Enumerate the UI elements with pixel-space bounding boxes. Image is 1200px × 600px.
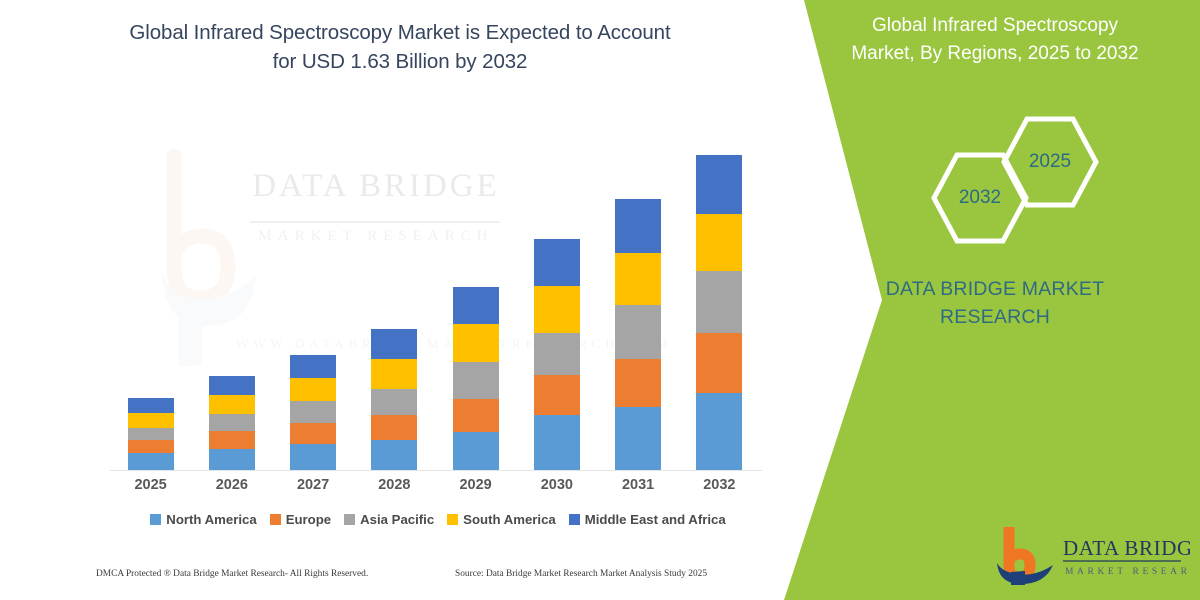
legend-item[interactable]: Middle East and Africa	[569, 512, 726, 527]
legend-label: North America	[166, 512, 256, 527]
legend-label: Middle East and Africa	[585, 512, 726, 527]
legend-item[interactable]: South America	[447, 512, 556, 527]
bar-segment	[209, 376, 255, 395]
chart-title-line-2: for USD 1.63 Billion by 2032	[60, 47, 740, 76]
bar-segment	[453, 362, 499, 399]
bar-segment	[371, 440, 417, 470]
bar-segment	[696, 271, 742, 333]
bar-segment	[209, 414, 255, 431]
chart-title-line-1: Global Infrared Spectroscopy Market is E…	[60, 18, 740, 47]
infographic-root: Global Infrared Spectroscopy Market is E…	[0, 0, 1200, 600]
x-axis-line	[110, 470, 762, 471]
green-panel-title-line-1: Global Infrared Spectroscopy	[810, 12, 1180, 40]
x-axis-label-2031: 2031	[598, 477, 678, 493]
x-axis-label-2027: 2027	[273, 477, 353, 493]
bar-segment	[615, 305, 661, 359]
brand-name-line-2: RESEARCH	[870, 303, 1120, 331]
bar-segment	[371, 389, 417, 415]
chart-panel: Global Infrared Spectroscopy Market is E…	[0, 0, 800, 600]
bar-segment	[615, 199, 661, 253]
logo-sub-text: MARKET RESEARCH	[1065, 567, 1190, 577]
brand-name-line-1: DATA BRIDGE MARKET	[870, 275, 1120, 303]
legend-label: South America	[463, 512, 556, 527]
bar-segment	[696, 393, 742, 470]
legend-item[interactable]: Asia Pacific	[344, 512, 434, 527]
x-axis-tick-labels: 20252026202720282029203020312032	[110, 477, 760, 499]
green-panel-title: Global Infrared Spectroscopy Market, By …	[810, 12, 1180, 67]
x-axis-label-2026: 2026	[192, 477, 272, 493]
logo-mark-icon	[997, 531, 1053, 585]
bar-segment	[696, 333, 742, 393]
bar-chart-plot-area	[110, 140, 760, 470]
legend-item[interactable]: North America	[150, 512, 256, 527]
legend-swatch-icon	[344, 514, 355, 525]
bar-group-2030	[534, 239, 580, 470]
bar-segment	[534, 333, 580, 375]
bar-segment	[453, 432, 499, 470]
bar-segment	[696, 214, 742, 271]
legend-item[interactable]: Europe	[270, 512, 331, 527]
footer-dmca-text: DMCA Protected ® Data Bridge Market Rese…	[96, 569, 368, 579]
bar-segment	[371, 329, 417, 359]
chart-legend: North AmericaEuropeAsia PacificSouth Ame…	[108, 512, 768, 527]
bar-group-2027	[290, 355, 336, 470]
bar-segment	[615, 253, 661, 305]
bar-segment	[534, 375, 580, 415]
bar-group-2031	[615, 199, 661, 470]
hexagon-badge-2025: 2025	[1000, 112, 1100, 212]
green-panel-brand-name: DATA BRIDGE MARKET RESEARCH	[870, 275, 1120, 332]
bar-segment	[290, 444, 336, 470]
bar-segment	[209, 395, 255, 414]
bar-segment	[209, 449, 255, 470]
legend-label: Europe	[286, 512, 331, 527]
bar-segment	[371, 359, 417, 389]
bar-segment	[209, 431, 255, 449]
x-axis-label-2029: 2029	[436, 477, 516, 493]
bar-segment	[290, 401, 336, 423]
hexagon-label-2025: 2025	[1000, 112, 1100, 212]
bar-group-2025	[128, 398, 174, 470]
bar-segment	[453, 324, 499, 362]
bar-group-2026	[209, 376, 255, 470]
bar-group-2029	[453, 287, 499, 470]
x-axis-label-2025: 2025	[111, 477, 191, 493]
bar-segment	[290, 423, 336, 444]
bar-group-2032	[696, 155, 742, 470]
bar-segment	[615, 359, 661, 407]
footer-source-text: Source: Data Bridge Market Research Mark…	[455, 569, 707, 579]
bar-group-2028	[371, 329, 417, 470]
bar-segment	[453, 287, 499, 324]
bar-segment	[696, 155, 742, 214]
bar-segment	[453, 399, 499, 432]
legend-swatch-icon	[270, 514, 281, 525]
bar-segment	[128, 453, 174, 470]
data-bridge-logo: DATA BRIDGE MARKET RESEARCH	[995, 527, 1190, 589]
legend-swatch-icon	[447, 514, 458, 525]
bar-segment	[534, 286, 580, 333]
green-side-panel: Global Infrared Spectroscopy Market, By …	[760, 0, 1200, 600]
bar-segment	[128, 440, 174, 453]
legend-label: Asia Pacific	[360, 512, 434, 527]
bar-segment	[128, 413, 174, 428]
bar-segment	[534, 239, 580, 286]
bar-segment	[290, 378, 336, 401]
legend-swatch-icon	[569, 514, 580, 525]
bar-segment	[615, 407, 661, 470]
bar-segment	[290, 355, 336, 378]
x-axis-label-2028: 2028	[354, 477, 434, 493]
x-axis-label-2030: 2030	[517, 477, 597, 493]
chart-title: Global Infrared Spectroscopy Market is E…	[60, 18, 740, 76]
logo-brand-text: DATA BRIDGE	[1063, 536, 1190, 560]
bar-segment	[128, 398, 174, 413]
bar-segment	[371, 415, 417, 440]
legend-swatch-icon	[150, 514, 161, 525]
bar-segment	[534, 415, 580, 470]
x-axis-label-2032: 2032	[679, 477, 759, 493]
bar-segment	[128, 428, 174, 440]
green-panel-title-line-2: Market, By Regions, 2025 to 2032	[810, 40, 1180, 68]
